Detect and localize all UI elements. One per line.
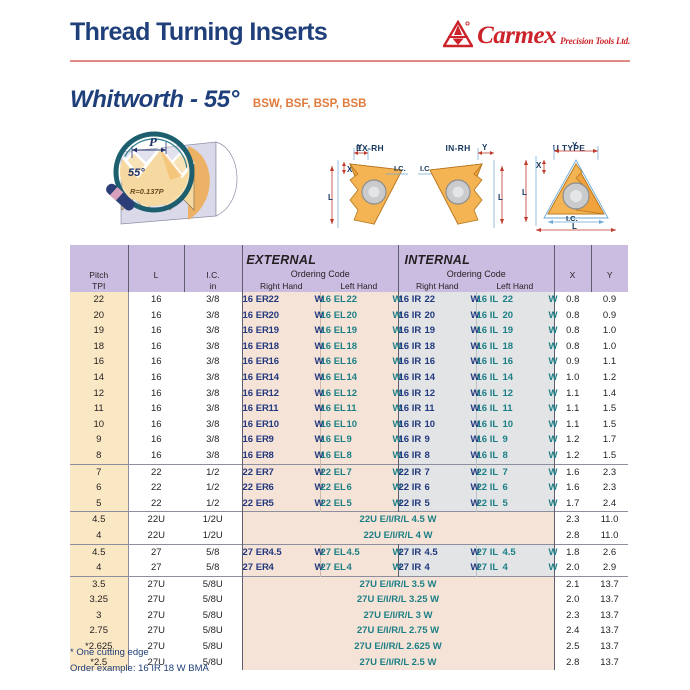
cell-y: 0.9 (591, 308, 628, 324)
diagram-u-type: U TYPE L Y X (514, 122, 624, 234)
cell-y: 2.6 (591, 544, 628, 560)
spec-table-body: 22163/816 ER22W16 EL22W16 IR22W16 IL22W0… (70, 292, 628, 670)
cell-l: 27U (128, 576, 184, 592)
table-row: 2.7527U5/8U27U E/I/R/L 2.75 W2.413.7 (70, 623, 628, 639)
cell-x: 1.1 (554, 417, 591, 433)
cell-pitch: 18 (70, 339, 128, 355)
cell-internal-right-hand: 16 IR16W (398, 354, 476, 370)
cell-external-right-hand: 16 ER14W (242, 370, 320, 386)
cell-l: 16 (128, 323, 184, 339)
cell-x: 1.8 (554, 544, 591, 560)
insert-specification-table: Pitch TPI L I.C. in EXTERNAL Ordering Co… (70, 245, 628, 670)
cell-pitch: 12 (70, 386, 128, 402)
cell-external-left-hand: 22 EL6W (320, 480, 398, 496)
cell-ic: 3/8 (184, 354, 242, 370)
cell-l: 27 (128, 560, 184, 576)
table-row: 6221/222 ER6W22 EL6W22 IR6W22 IL6W1.62.3 (70, 480, 628, 496)
col-header-external-rh: EXTERNAL Ordering Code Right Hand (242, 245, 320, 292)
cell-l: 22 (128, 480, 184, 496)
cell-pitch: 14 (70, 370, 128, 386)
cell-pitch: 11 (70, 401, 128, 417)
cell-pitch: 4 (70, 560, 128, 576)
cell-l: 16 (128, 370, 184, 386)
cell-y: 11.0 (591, 512, 628, 528)
page-header: Thread Turning Inserts Carmex Precision … (70, 18, 630, 64)
catalog-page: Thread Turning Inserts Carmex Precision … (0, 0, 690, 690)
cell-ic: 3/8 (184, 386, 242, 402)
cell-internal-right-hand: 16 IR10W (398, 417, 476, 433)
svg-text:I.C.: I.C. (394, 164, 406, 173)
cell-external-left-hand: 16 EL14W (320, 370, 398, 386)
table-row: 5221/222 ER5W22 EL5W22 IR5W22 IL5W1.72.4 (70, 496, 628, 512)
cell-ordering-code-merged: 27U E/I/R/L 2.625 W (242, 639, 554, 655)
cell-x: 1.2 (554, 432, 591, 448)
brand-logo: Carmex Precision Tools Ltd. (443, 20, 630, 48)
cell-y: 0.9 (591, 292, 628, 308)
col-header-l: L (128, 245, 184, 292)
cell-l: 22 (128, 496, 184, 512)
cell-internal-right-hand: 16 IR19W (398, 323, 476, 339)
cell-internal-left-hand: 16 IL8W (476, 448, 554, 464)
table-row: 3.527U5/8U27U E/I/R/L 3.5 W2.113.7 (70, 576, 628, 592)
cell-l: 22U (128, 512, 184, 528)
cell-internal-left-hand: 16 IL11W (476, 401, 554, 417)
cell-ic: 3/8 (184, 323, 242, 339)
cell-y: 13.7 (591, 576, 628, 592)
cell-external-left-hand: 22 EL7W (320, 464, 398, 480)
cell-external-left-hand: 16 EL19W (320, 323, 398, 339)
cell-pitch: 4 (70, 528, 128, 544)
cell-y: 11.0 (591, 528, 628, 544)
cell-external-left-hand: 16 EL20W (320, 308, 398, 324)
cell-y: 2.9 (591, 560, 628, 576)
cell-ic: 1/2 (184, 464, 242, 480)
cell-internal-left-hand: 16 IL10W (476, 417, 554, 433)
cell-internal-left-hand: 16 IL19W (476, 323, 554, 339)
cell-x: 0.8 (554, 323, 591, 339)
cell-ic: 3/8 (184, 432, 242, 448)
cell-internal-right-hand: 16 IR18W (398, 339, 476, 355)
cell-x: 2.3 (554, 608, 591, 624)
col-header-y: Y (591, 245, 628, 292)
cell-external-left-hand: 16 EL10W (320, 417, 398, 433)
cell-ic: 5/8U (184, 576, 242, 592)
cell-ordering-code-merged: 27U E/I/R/L 2.5 W (242, 655, 554, 671)
thread-profile-magnifier-illustration: P 55° R=0.137P (66, 124, 266, 236)
cell-internal-left-hand: 16 IL18W (476, 339, 554, 355)
cell-internal-right-hand: 27 IR4.5W (398, 544, 476, 560)
cell-y: 1.5 (591, 417, 628, 433)
spec-table: Pitch TPI L I.C. in EXTERNAL Ordering Co… (70, 245, 628, 670)
brand-name: Carmex (477, 23, 556, 48)
cell-internal-right-hand: 22 IR6W (398, 480, 476, 496)
cell-x: 2.0 (554, 592, 591, 608)
cell-l: 16 (128, 354, 184, 370)
table-row: 9163/816 ER9W16 EL9W16 IR9W16 IL9W1.21.7 (70, 432, 628, 448)
table-footnotes: * One cutting edge Order example: 16 IR … (70, 645, 209, 676)
cell-x: 2.0 (554, 560, 591, 576)
cell-pitch: 8 (70, 448, 128, 464)
footnote-order-example: Order example: 16 IR 18 W BMA (70, 661, 209, 677)
cell-y: 1.5 (591, 401, 628, 417)
table-header-row: Pitch TPI L I.C. in EXTERNAL Ordering Co… (70, 245, 628, 292)
cell-l: 16 (128, 308, 184, 324)
table-row: 14163/816 ER14W16 EL14W16 IR14W16 IL14W1… (70, 370, 628, 386)
cell-pitch: 7 (70, 464, 128, 480)
cell-ic: 3/8 (184, 339, 242, 355)
table-row: 20163/816 ER20W16 EL20W16 IR20W16 IL20W0… (70, 308, 628, 324)
table-row: 4.5275/827 ER4.5W27 EL4.5W27 IR4.5W27 IL… (70, 544, 628, 560)
cell-x: 0.8 (554, 308, 591, 324)
col-header-internal-rh: INTERNAL Ordering Code Right Hand (398, 245, 476, 292)
cell-internal-left-hand: 16 IL12W (476, 386, 554, 402)
svg-text:Y: Y (572, 141, 578, 150)
cell-internal-right-hand: 16 IR11W (398, 401, 476, 417)
cell-l: 22 (128, 464, 184, 480)
cell-pitch: 16 (70, 354, 128, 370)
cell-l: 16 (128, 417, 184, 433)
cell-x: 2.5 (554, 639, 591, 655)
cell-external-left-hand: 16 EL8W (320, 448, 398, 464)
cell-l: 16 (128, 386, 184, 402)
cell-ic: 3/8 (184, 370, 242, 386)
cell-external-right-hand: 16 ER22W (242, 292, 320, 308)
col-header-ic: I.C. in (184, 245, 242, 292)
table-row: 7221/222 ER7W22 EL7W22 IR7W22 IL7W1.62.3 (70, 464, 628, 480)
cell-ic: 5/8U (184, 608, 242, 624)
cell-external-right-hand: 16 ER11W (242, 401, 320, 417)
cell-external-left-hand: 27 EL4.5W (320, 544, 398, 560)
cell-y: 13.7 (591, 623, 628, 639)
svg-text:Y: Y (357, 144, 363, 152)
cell-y: 13.7 (591, 655, 628, 671)
cell-ic: 3/8 (184, 417, 242, 433)
cell-internal-left-hand: 16 IL14W (476, 370, 554, 386)
svg-text:55°: 55° (128, 167, 145, 179)
cell-internal-left-hand: 16 IL16W (476, 354, 554, 370)
cell-y: 1.4 (591, 386, 628, 402)
table-row: 4.522U1/2U22U E/I/R/L 4.5 W2.311.0 (70, 512, 628, 528)
cell-ic: 1/2U (184, 512, 242, 528)
cell-internal-left-hand: 16 IL20W (476, 308, 554, 324)
cell-pitch: 2.75 (70, 623, 128, 639)
cell-external-left-hand: 22 EL5W (320, 496, 398, 512)
cell-internal-right-hand: 22 IR5W (398, 496, 476, 512)
cell-x: 1.6 (554, 480, 591, 496)
diagram-in-rh-ex-lh: IN-RH EX-LH I.C. Y L (416, 122, 508, 234)
cell-ic: 3/8 (184, 448, 242, 464)
cell-x: 2.8 (554, 655, 591, 671)
cell-x: 1.1 (554, 401, 591, 417)
cell-x: 2.8 (554, 528, 591, 544)
cell-pitch: 3 (70, 608, 128, 624)
cell-l: 27U (128, 592, 184, 608)
table-row: 19163/816 ER19W16 EL19W16 IR19W16 IL19W0… (70, 323, 628, 339)
cell-internal-right-hand: 16 IR22W (398, 292, 476, 308)
cell-external-right-hand: 16 ER9W (242, 432, 320, 448)
cell-external-left-hand: 16 EL16W (320, 354, 398, 370)
cell-pitch: 4.5 (70, 544, 128, 560)
cell-x: 1.7 (554, 496, 591, 512)
cell-internal-left-hand: 22 IL7W (476, 464, 554, 480)
cell-x: 2.3 (554, 512, 591, 528)
svg-text:L: L (498, 193, 503, 202)
illustration-row: P 55° R=0.137P EX-RH IN-LH (66, 122, 626, 238)
cell-x: 2.1 (554, 576, 591, 592)
svg-text:L: L (328, 193, 333, 202)
cell-external-right-hand: 16 ER10W (242, 417, 320, 433)
svg-text:I.C.: I.C. (420, 164, 432, 173)
table-row: 22163/816 ER22W16 EL22W16 IR22W16 IL22W0… (70, 292, 628, 308)
cell-internal-right-hand: 22 IR7W (398, 464, 476, 480)
cell-external-left-hand: 16 EL12W (320, 386, 398, 402)
cell-y: 1.0 (591, 323, 628, 339)
cell-internal-left-hand: 22 IL5W (476, 496, 554, 512)
cell-x: 1.0 (554, 370, 591, 386)
col-header-pitch: Pitch TPI (70, 245, 128, 292)
cell-external-right-hand: 22 ER6W (242, 480, 320, 496)
cell-pitch: 3.25 (70, 592, 128, 608)
cell-external-right-hand: 16 ER19W (242, 323, 320, 339)
cell-internal-right-hand: 16 IR12W (398, 386, 476, 402)
cell-internal-left-hand: 16 IL22W (476, 292, 554, 308)
cell-ic: 3/8 (184, 308, 242, 324)
cell-x: 0.8 (554, 339, 591, 355)
cell-external-left-hand: 16 EL11W (320, 401, 398, 417)
cell-pitch: 19 (70, 323, 128, 339)
cell-y: 13.7 (591, 608, 628, 624)
footnote-one-cutting-edge: * One cutting edge (70, 645, 209, 661)
svg-text:Y: Y (482, 144, 488, 152)
cell-external-right-hand: 16 ER8W (242, 448, 320, 464)
cell-ic: 1/2 (184, 496, 242, 512)
cell-external-right-hand: 16 ER16W (242, 354, 320, 370)
col-header-x: X (554, 245, 591, 292)
diagram-ex-rh-in-lh: EX-RH IN-LH L Y X I. (324, 122, 416, 234)
table-row: 327U5/8U27U E/I/R/L 3 W2.313.7 (70, 608, 628, 624)
thread-type-heading: Whitworth - 55° BSW, BSF, BSP, BSB (70, 86, 366, 114)
cell-ordering-code-merged: 27U E/I/R/L 3 W (242, 608, 554, 624)
cell-x: 0.8 (554, 292, 591, 308)
cell-y: 2.3 (591, 480, 628, 496)
cell-x: 1.2 (554, 448, 591, 464)
cell-ic: 5/8 (184, 544, 242, 560)
cell-l: 16 (128, 401, 184, 417)
cell-external-right-hand: 16 ER20W (242, 308, 320, 324)
cell-internal-right-hand: 16 IR8W (398, 448, 476, 464)
table-row: 18163/816 ER18W16 EL18W16 IR18W16 IL18W0… (70, 339, 628, 355)
cell-x: 2.4 (554, 623, 591, 639)
cell-l: 16 (128, 292, 184, 308)
table-row: 3.2527U5/8U27U E/I/R/L 3.25 W2.013.7 (70, 592, 628, 608)
cell-external-right-hand: 27 ER4.5W (242, 544, 320, 560)
cell-pitch: 5 (70, 496, 128, 512)
cell-y: 13.7 (591, 592, 628, 608)
cell-pitch: 20 (70, 308, 128, 324)
cell-l: 27U (128, 608, 184, 624)
cell-pitch: 10 (70, 417, 128, 433)
table-row: 4275/827 ER4W27 EL4W27 IR4W27 IL4W2.02.9 (70, 560, 628, 576)
cell-l: 22U (128, 528, 184, 544)
cell-external-left-hand: 16 EL9W (320, 432, 398, 448)
svg-text:X: X (536, 161, 542, 170)
cell-internal-right-hand: 16 IR20W (398, 308, 476, 324)
cell-external-left-hand: 16 EL22W (320, 292, 398, 308)
carmex-triangle-logo-icon (443, 20, 473, 48)
cell-external-right-hand: 27 ER4W (242, 560, 320, 576)
cell-ic: 3/8 (184, 401, 242, 417)
cell-l: 27 (128, 544, 184, 560)
table-row: 16163/816 ER16W16 EL16W16 IR16W16 IL16W0… (70, 354, 628, 370)
cell-ordering-code-merged: 22U E/I/R/L 4.5 W (242, 512, 554, 528)
cell-external-right-hand: 22 ER7W (242, 464, 320, 480)
cell-ic: 5/8 (184, 560, 242, 576)
cell-ordering-code-merged: 22U E/I/R/L 4 W (242, 528, 554, 544)
cell-ordering-code-merged: 27U E/I/R/L 2.75 W (242, 623, 554, 639)
cell-internal-left-hand: 27 IL4.5W (476, 544, 554, 560)
table-row: 12163/816 ER12W16 EL12W16 IR12W16 IL12W1… (70, 386, 628, 402)
thread-standard-list: BSW, BSF, BSP, BSB (253, 98, 367, 110)
cell-x: 1.1 (554, 386, 591, 402)
cell-x: 0.9 (554, 354, 591, 370)
thread-standard-name: Whitworth - 55° (70, 86, 239, 114)
cell-ic: 5/8U (184, 623, 242, 639)
cell-y: 2.3 (591, 464, 628, 480)
cell-pitch: 3.5 (70, 576, 128, 592)
cell-ordering-code-merged: 27U E/I/R/L 3.25 W (242, 592, 554, 608)
cell-y: 1.1 (591, 354, 628, 370)
svg-text:R=0.137P: R=0.137P (130, 187, 165, 196)
cell-ordering-code-merged: 27U E/I/R/L 3.5 W (242, 576, 554, 592)
cell-y: 13.7 (591, 639, 628, 655)
cell-external-right-hand: 22 ER5W (242, 496, 320, 512)
cell-pitch: 22 (70, 292, 128, 308)
cell-pitch: 4.5 (70, 512, 128, 528)
cell-y: 1.0 (591, 339, 628, 355)
table-row: 10163/816 ER10W16 EL10W16 IR10W16 IL10W1… (70, 417, 628, 433)
cell-external-left-hand: 27 EL4W (320, 560, 398, 576)
cell-l: 16 (128, 448, 184, 464)
page-title: Thread Turning Inserts (70, 18, 327, 47)
cell-ic: 1/2 (184, 480, 242, 496)
cell-ic: 3/8 (184, 292, 242, 308)
brand-tagline: Precision Tools Ltd. (560, 37, 630, 48)
cell-internal-right-hand: 27 IR4W (398, 560, 476, 576)
cell-y: 2.4 (591, 496, 628, 512)
cell-internal-left-hand: 16 IL9W (476, 432, 554, 448)
cell-l: 27U (128, 623, 184, 639)
cell-y: 1.7 (591, 432, 628, 448)
cell-x: 1.6 (554, 464, 591, 480)
cell-ic: 5/8U (184, 592, 242, 608)
svg-text:L: L (522, 188, 527, 197)
cell-external-left-hand: 16 EL18W (320, 339, 398, 355)
table-row: 422U1/2U22U E/I/R/L 4 W2.811.0 (70, 528, 628, 544)
cell-internal-right-hand: 16 IR9W (398, 432, 476, 448)
cell-pitch: 9 (70, 432, 128, 448)
cell-external-right-hand: 16 ER12W (242, 386, 320, 402)
cell-external-right-hand: 16 ER18W (242, 339, 320, 355)
table-row: 11163/816 ER11W16 EL11W16 IR11W16 IL11W1… (70, 401, 628, 417)
cell-internal-right-hand: 16 IR14W (398, 370, 476, 386)
cell-ic: 1/2U (184, 528, 242, 544)
svg-text:L: L (572, 222, 577, 231)
cell-internal-left-hand: 27 IL4W (476, 560, 554, 576)
table-row: 8163/816 ER8W16 EL8W16 IR8W16 IL8W1.21.5 (70, 448, 628, 464)
cell-y: 1.5 (591, 448, 628, 464)
cell-y: 1.2 (591, 370, 628, 386)
cell-l: 16 (128, 339, 184, 355)
cell-pitch: 6 (70, 480, 128, 496)
cell-internal-left-hand: 22 IL6W (476, 480, 554, 496)
header-divider (70, 60, 630, 62)
cell-l: 16 (128, 432, 184, 448)
